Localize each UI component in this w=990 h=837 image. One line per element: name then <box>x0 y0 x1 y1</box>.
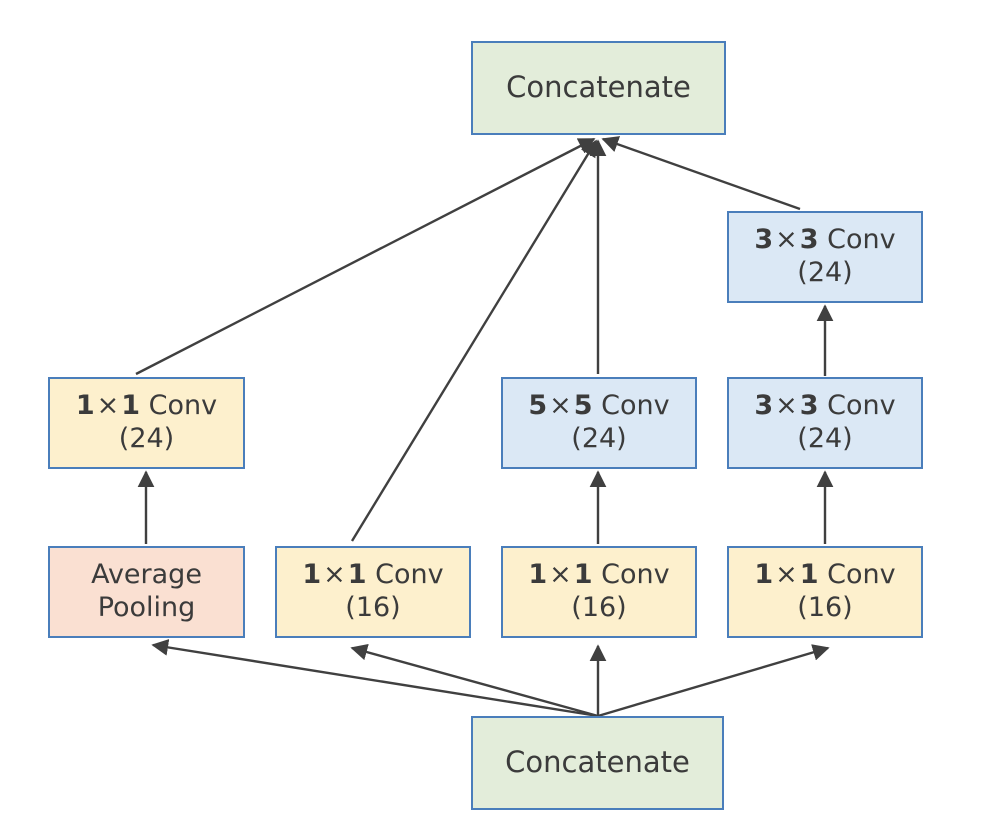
edge-conv3x3-top-right-to-concat-top <box>603 139 800 209</box>
node-conv5x5-mid-kernel-line: 5×5 Conv <box>528 390 669 423</box>
node-concat-bottom-label: Concatenate <box>505 745 690 780</box>
kernel-w: 1 <box>574 559 593 590</box>
layer-type: Conv <box>827 224 895 255</box>
node-conv5x5-mid-channels: (24) <box>571 423 626 456</box>
edge-concat-bottom-to-conv1x1-b3 <box>598 648 828 716</box>
kernel-w: 3 <box>800 224 819 255</box>
kernel-h: 5 <box>528 390 547 421</box>
kernel-w: 1 <box>348 559 367 590</box>
node-concat-top[interactable]: Concatenate <box>471 41 726 135</box>
diagram-canvas: Concatenate 3×3 Conv (24) 1×1 Conv (24) … <box>0 0 990 837</box>
node-average-pooling-line1: Average <box>91 559 202 592</box>
node-conv1x1-b3-kernel-line: 1×1 Conv <box>754 559 895 592</box>
kernel-w: 1 <box>800 559 819 590</box>
node-conv3x3-right-channels: (24) <box>797 423 852 456</box>
node-conv1x1-b1[interactable]: 1×1 Conv (16) <box>275 546 471 638</box>
node-conv3x3-top-right[interactable]: 3×3 Conv (24) <box>727 211 923 303</box>
node-conv1x1-left-kernel-line: 1×1 Conv <box>76 390 217 423</box>
times-symbol: × <box>95 390 122 421</box>
node-conv3x3-top-right-kernel-line: 3×3 Conv <box>754 224 895 257</box>
node-conv3x3-top-right-channels: (24) <box>797 257 852 290</box>
node-conv3x3-right[interactable]: 3×3 Conv (24) <box>727 377 923 469</box>
layer-type: Conv <box>827 559 895 590</box>
kernel-w: 1 <box>121 390 140 421</box>
node-conv1x1-b2-kernel-line: 1×1 Conv <box>528 559 669 592</box>
layer-type: Conv <box>601 390 669 421</box>
kernel-w: 3 <box>800 390 819 421</box>
layer-type: Conv <box>375 559 443 590</box>
node-concat-top-label: Concatenate <box>506 70 691 105</box>
node-conv1x1-b2-channels: (16) <box>571 592 626 625</box>
node-conv5x5-mid[interactable]: 5×5 Conv (24) <box>501 377 697 469</box>
kernel-h: 3 <box>754 390 773 421</box>
node-conv1x1-b3-channels: (16) <box>797 592 852 625</box>
times-symbol: × <box>773 224 800 255</box>
times-symbol: × <box>773 559 800 590</box>
layer-type: Conv <box>827 390 895 421</box>
node-conv1x1-b1-channels: (16) <box>345 592 400 625</box>
layer-type: Conv <box>149 390 217 421</box>
kernel-h: 1 <box>76 390 95 421</box>
times-symbol: × <box>547 559 574 590</box>
node-average-pooling-line2: Pooling <box>98 592 196 625</box>
kernel-h: 1 <box>302 559 321 590</box>
node-conv1x1-b1-kernel-line: 1×1 Conv <box>302 559 443 592</box>
node-conv3x3-right-kernel-line: 3×3 Conv <box>754 390 895 423</box>
times-symbol: × <box>321 559 348 590</box>
node-conv1x1-b2[interactable]: 1×1 Conv (16) <box>501 546 697 638</box>
kernel-w: 5 <box>574 390 593 421</box>
node-conv1x1-left-channels: (24) <box>119 423 174 456</box>
node-average-pooling[interactable]: Average Pooling <box>48 546 245 638</box>
node-concat-bottom[interactable]: Concatenate <box>471 716 724 810</box>
kernel-h: 1 <box>754 559 773 590</box>
node-conv1x1-left[interactable]: 1×1 Conv (24) <box>48 377 245 469</box>
layer-type: Conv <box>601 559 669 590</box>
times-symbol: × <box>773 390 800 421</box>
times-symbol: × <box>547 390 574 421</box>
kernel-h: 3 <box>754 224 773 255</box>
kernel-h: 1 <box>528 559 547 590</box>
node-conv1x1-b3[interactable]: 1×1 Conv (16) <box>727 546 923 638</box>
